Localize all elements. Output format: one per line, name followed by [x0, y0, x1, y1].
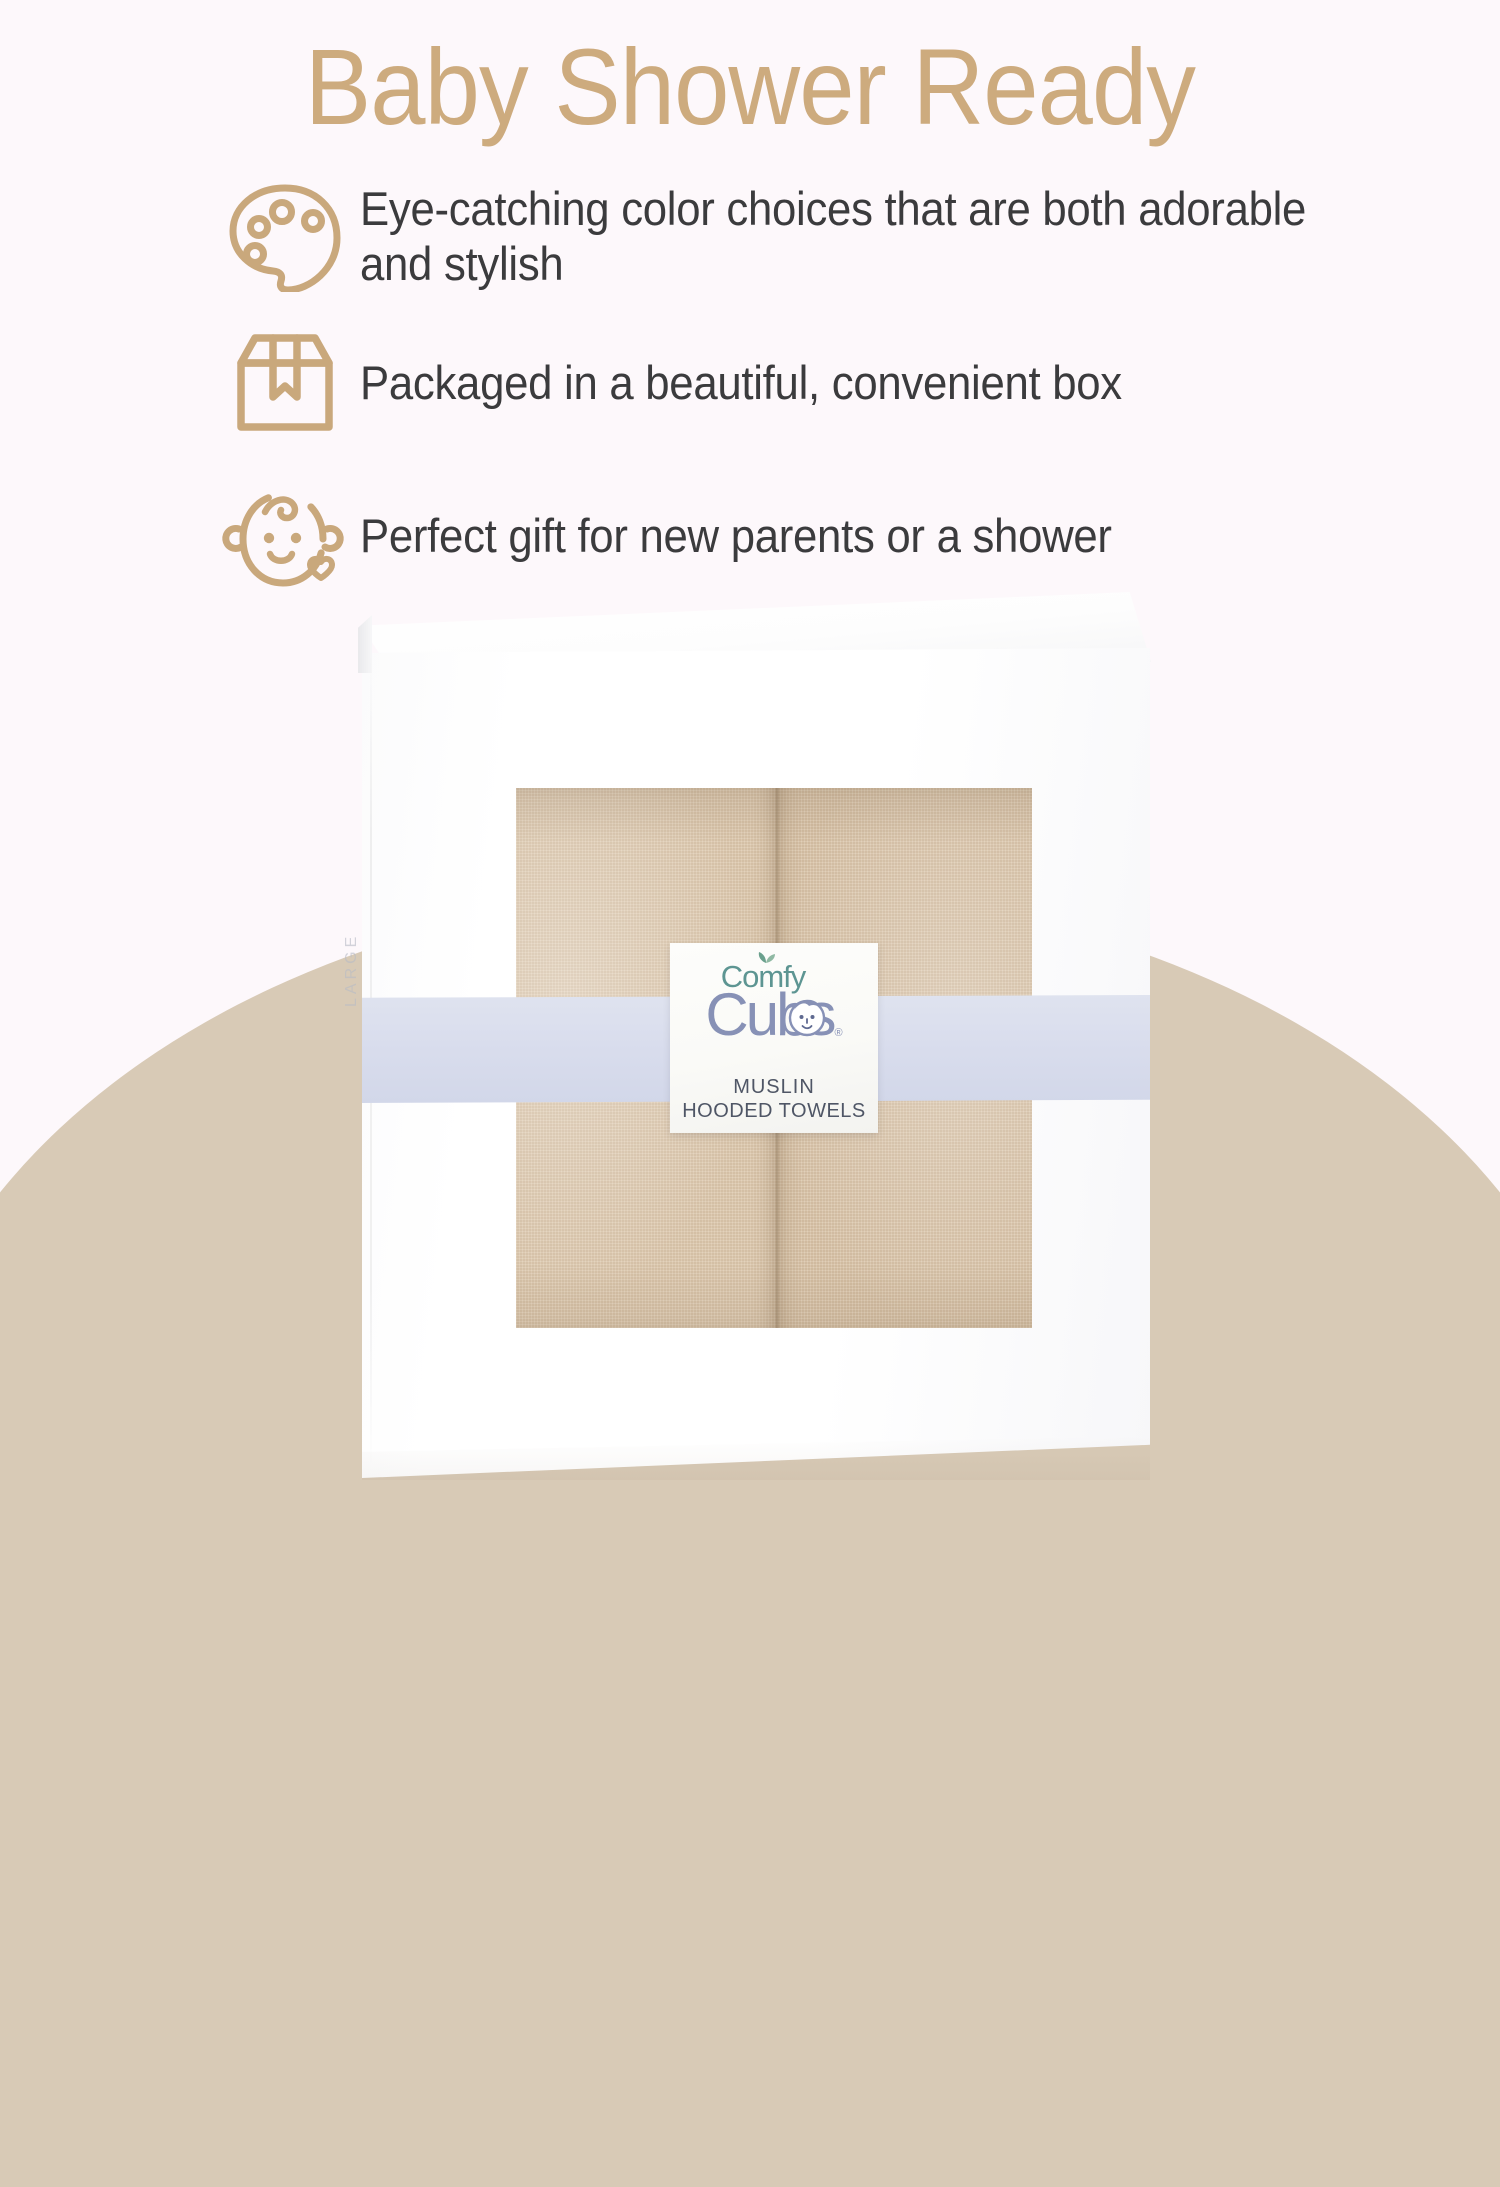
feature-item: Packaged in a beautiful, convenient box	[210, 318, 1390, 448]
brand-logo: Comfy Cubs ®	[684, 961, 864, 1065]
product-name-line-2: HOODED TOWELS	[682, 1099, 866, 1123]
brand-logo-cubs-wrap: Cubs ®	[705, 985, 842, 1045]
baby-face-logo-icon	[784, 993, 830, 1039]
feature-label: Eye-catching color choices that are both…	[360, 178, 1318, 292]
feature-label: Perfect gift for new parents or a shower	[360, 509, 1318, 564]
feature-item: Perfect gift for new parents or a shower	[210, 470, 1390, 602]
feature-item: Eye-catching color choices that are both…	[210, 178, 1390, 296]
product-name-line-1: MUSLIN	[682, 1075, 866, 1099]
registered-trademark-icon: ®	[834, 1027, 842, 1039]
leaf-sprig-icon	[755, 950, 777, 964]
product-photo: LARGE Comfy Cubs ®	[0, 580, 1500, 1500]
gift-box-icon	[210, 327, 360, 439]
paint-palette-icon	[210, 178, 360, 292]
page-title: Baby Shower Ready	[60, 30, 1440, 143]
feature-label: Packaged in a beautiful, convenient box	[360, 356, 1318, 411]
baby-face-heart-icon	[210, 479, 360, 593]
product-name: MUSLIN HOODED TOWELS	[682, 1075, 866, 1124]
feature-list: Eye-catching color choices that are both…	[210, 178, 1390, 624]
product-label: Comfy Cubs ® MUSLIN HOODED TOWELS	[670, 943, 878, 1133]
